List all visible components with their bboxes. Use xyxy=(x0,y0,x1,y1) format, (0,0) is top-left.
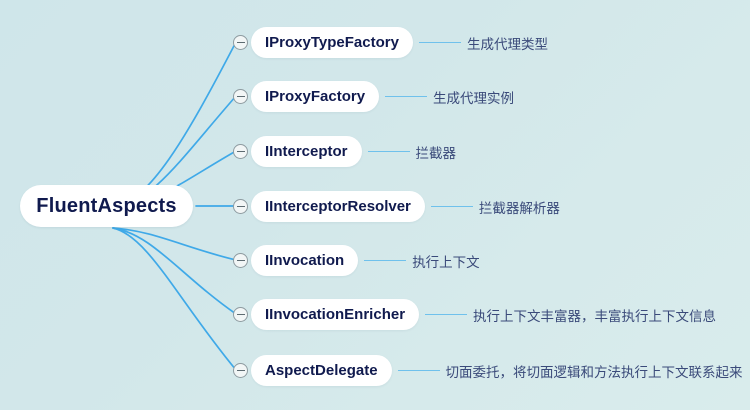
leaf-connector-line xyxy=(398,370,440,371)
edge-to-branch-6 xyxy=(113,228,236,314)
branch-description: 切面委托，将切面逻辑和方法执行上下文联系起来 xyxy=(446,361,743,381)
root-node-label: FluentAspects xyxy=(36,195,176,218)
branch-description: 执行上下文丰富器，丰富执行上下文信息 xyxy=(473,305,716,325)
topic-label: IProxyFactory xyxy=(265,88,365,105)
branch-row-aspectdelegate[interactable]: AspectDelegate 切面委托，将切面逻辑和方法执行上下文联系起来 xyxy=(233,355,743,386)
branch-row-iinvocation[interactable]: IInvocation 执行上下文 xyxy=(233,245,480,276)
leaf-connector-line xyxy=(431,206,473,207)
branch-row-iproxytypefactory[interactable]: IProxyTypeFactory 生成代理类型 xyxy=(233,27,548,58)
leaf-connector-line xyxy=(368,151,410,152)
edge-to-branch-7 xyxy=(113,228,236,370)
mindmap-canvas: FluentAspects IProxyTypeFactory 生成代理类型 I… xyxy=(0,0,750,410)
collapse-minus-icon[interactable] xyxy=(233,35,248,50)
branch-row-iproxyfactory[interactable]: IProxyFactory 生成代理实例 xyxy=(233,81,514,112)
branch-row-iinterceptor[interactable]: IInterceptor 拦截器 xyxy=(233,136,456,167)
topic-label: IInterceptorResolver xyxy=(265,198,411,215)
topic-label: IInvocation xyxy=(265,252,344,269)
topic-label: AspectDelegate xyxy=(265,362,378,379)
edge-to-branch-5 xyxy=(113,228,236,260)
branch-description: 生成代理实例 xyxy=(433,87,514,107)
branch-row-iinvocationenricher[interactable]: IInvocationEnricher 执行上下文丰富器，丰富执行上下文信息 xyxy=(233,299,716,330)
topic-label: IProxyTypeFactory xyxy=(265,34,399,51)
leaf-connector-line xyxy=(425,314,467,315)
collapse-minus-icon[interactable] xyxy=(233,307,248,322)
collapse-minus-icon[interactable] xyxy=(233,89,248,104)
leaf-connector-line xyxy=(419,42,461,43)
collapse-minus-icon[interactable] xyxy=(233,363,248,378)
leaf-connector-line xyxy=(385,96,427,97)
topic-pill-iinvocationenricher[interactable]: IInvocationEnricher xyxy=(251,299,419,330)
branch-description: 执行上下文 xyxy=(412,251,480,271)
leaf-connector-line xyxy=(364,260,406,261)
collapse-minus-icon[interactable] xyxy=(233,253,248,268)
topic-label: IInvocationEnricher xyxy=(265,306,405,323)
root-node-fluentaspects[interactable]: FluentAspects xyxy=(20,185,193,227)
edge-to-branch-1 xyxy=(113,42,236,208)
branch-description: 拦截器 xyxy=(416,142,457,162)
branch-description: 拦截器解析器 xyxy=(479,197,560,217)
topic-pill-iproxytypefactory[interactable]: IProxyTypeFactory xyxy=(251,27,413,58)
topic-pill-iproxyfactory[interactable]: IProxyFactory xyxy=(251,81,379,112)
topic-pill-iinterceptor[interactable]: IInterceptor xyxy=(251,136,362,167)
collapse-minus-icon[interactable] xyxy=(233,199,248,214)
topic-pill-aspectdelegate[interactable]: AspectDelegate xyxy=(251,355,392,386)
collapse-minus-icon[interactable] xyxy=(233,144,248,159)
branch-description: 生成代理类型 xyxy=(467,33,548,53)
branch-row-iinterceptorresolver[interactable]: IInterceptorResolver 拦截器解析器 xyxy=(233,191,560,222)
topic-label: IInterceptor xyxy=(265,143,348,160)
topic-pill-iinterceptorresolver[interactable]: IInterceptorResolver xyxy=(251,191,425,222)
topic-pill-iinvocation[interactable]: IInvocation xyxy=(251,245,358,276)
